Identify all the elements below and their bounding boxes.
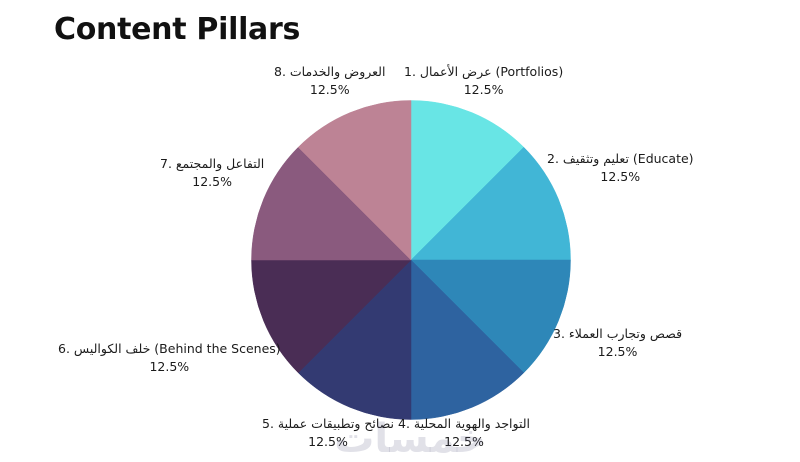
pie-slice-label-7: 7. التفاعل والمجتمع 12.5%: [160, 155, 264, 191]
pie-slice-label-3: 3. قصص وتجارب العملاء 12.5%: [553, 325, 682, 361]
pie-slice-label-8: 8. العروض والخدمات 12.5%: [274, 63, 385, 99]
pie-chart-svg: [251, 100, 571, 420]
pie-slice-value-8: 12.5%: [274, 81, 385, 99]
chart-canvas: Content Pillars 1. عرض الأعمال (Portfoli…: [0, 0, 800, 460]
pie-slice-value-6: 12.5%: [58, 358, 281, 376]
pie-slice-value-7: 12.5%: [160, 173, 264, 191]
pie-slice-name-6: 6. خلف الكواليس (Behind the Scenes): [58, 340, 281, 358]
pie-slice-value-2: 12.5%: [547, 168, 694, 186]
pie-slice-label-4: 4. التواجد والهوية المحلية 12.5%: [398, 415, 530, 451]
pie-slice-label-2: 2. تعليم وتثقيف (Educate) 12.5%: [547, 150, 694, 186]
pie-slice-value-3: 12.5%: [553, 343, 682, 361]
pie-slice-value-5: 12.5%: [262, 433, 394, 451]
pie-slice-name-3: 3. قصص وتجارب العملاء: [553, 325, 682, 343]
pie-slice-name-1: 1. عرض الأعمال (Portfolios): [404, 63, 563, 81]
pie-slice-name-2: 2. تعليم وتثقيف (Educate): [547, 150, 694, 168]
pie-slice-name-7: 7. التفاعل والمجتمع: [160, 155, 264, 173]
pie-slice-name-4: 4. التواجد والهوية المحلية: [398, 415, 530, 433]
pie-slice-value-1: 12.5%: [404, 81, 563, 99]
page-title: Content Pillars: [54, 12, 300, 47]
pie-slice-value-4: 12.5%: [398, 433, 530, 451]
pie-slice-label-5: 5. نصائح وتطبيقات عملية 12.5%: [262, 415, 394, 451]
pie-slice-name-5: 5. نصائح وتطبيقات عملية: [262, 415, 394, 433]
pie-slice-label-1: 1. عرض الأعمال (Portfolios) 12.5%: [404, 63, 563, 99]
pie-slice-name-8: 8. العروض والخدمات: [274, 63, 385, 81]
pie-chart: [251, 100, 571, 420]
pie-slice-label-6: 6. خلف الكواليس (Behind the Scenes) 12.5…: [58, 340, 281, 376]
